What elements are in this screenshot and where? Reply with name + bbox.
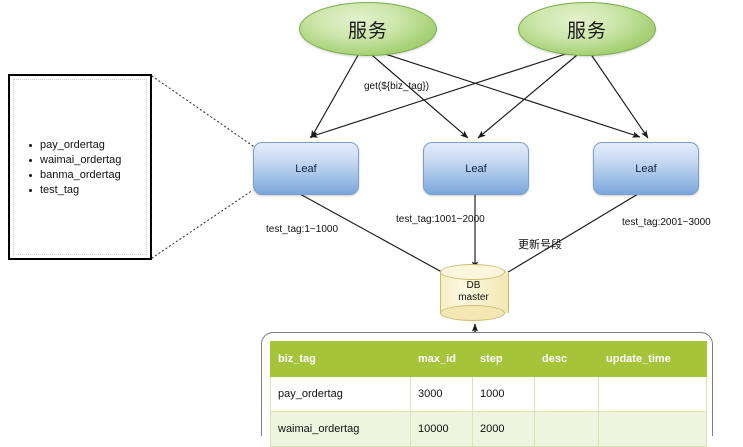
- column-header-max-id: max_id: [411, 342, 473, 377]
- leaf-label: Leaf: [295, 163, 316, 175]
- column-header-desc: desc: [535, 342, 599, 377]
- edge-label-range-right: test_tag:2001~3000: [622, 217, 711, 228]
- biz-tag-list: pay_ordertag waimai_ordertag banma_order…: [24, 138, 121, 198]
- cell-step: 2000: [473, 412, 535, 447]
- cell-biz-tag: pay_ordertag: [271, 377, 411, 412]
- db-label-line2: master: [440, 292, 507, 304]
- leaf-alloc-table: biz_tag max_id step desc update_time pay…: [270, 341, 707, 447]
- leaf-node-3: Leaf: [593, 142, 699, 195]
- cell-update-time: [599, 377, 707, 412]
- legend-expansion-lines: [152, 76, 253, 258]
- db-label-line1: DB: [440, 280, 507, 292]
- leaf-node-2: Leaf: [423, 142, 529, 195]
- table-header-row: biz_tag max_id step desc update_time: [271, 342, 707, 377]
- db-cylinder-bottom: [440, 305, 505, 321]
- list-item: test_tag: [40, 183, 121, 198]
- edge-label-get-call: get(${biz_tag}): [364, 81, 429, 92]
- cell-max-id: 10000: [411, 412, 473, 447]
- table-row: waimai_ordertag 10000 2000: [271, 412, 707, 447]
- list-item: banma_ordertag: [40, 168, 121, 183]
- column-header-biz-tag: biz_tag: [271, 342, 411, 377]
- cell-desc: [535, 377, 599, 412]
- db-master-node: DB master: [440, 264, 507, 321]
- diagram-canvas: pay_ordertag waimai_ordertag banma_order…: [0, 0, 743, 436]
- column-header-step: step: [473, 342, 535, 377]
- cell-step: 1000: [473, 377, 535, 412]
- service-to-leaf-edges: [310, 49, 648, 138]
- service-label: 服务: [348, 16, 388, 43]
- list-item: pay_ordertag: [40, 138, 121, 153]
- cell-max-id: 3000: [411, 377, 473, 412]
- list-item: waimai_ordertag: [40, 153, 121, 168]
- leaf-label: Leaf: [635, 163, 656, 175]
- table-row: pay_ordertag 3000 1000: [271, 377, 707, 412]
- cell-biz-tag: waimai_ordertag: [271, 412, 411, 447]
- service-label: 服务: [567, 16, 607, 43]
- edge-label-range-mid: test_tag:1001~2000: [396, 214, 485, 225]
- service-node-1: 服务: [299, 2, 437, 56]
- db-label: DB master: [440, 280, 507, 304]
- biz-tag-legend-box: pay_ordertag waimai_ordertag banma_order…: [8, 74, 152, 260]
- cell-desc: [535, 412, 599, 447]
- cell-update-time: [599, 412, 707, 447]
- leaf-label: Leaf: [465, 163, 486, 175]
- db-cylinder-top: [440, 264, 505, 280]
- column-header-update-time: update_time: [599, 342, 707, 377]
- leaf-alloc-table-container: biz_tag max_id step desc update_time pay…: [261, 332, 713, 436]
- edge-label-range-left: test_tag:1~1000: [266, 224, 338, 235]
- service-node-2: 服务: [518, 2, 656, 56]
- leaf-node-1: Leaf: [253, 142, 359, 195]
- edge-label-update-segment: 更新号段: [518, 236, 562, 252]
